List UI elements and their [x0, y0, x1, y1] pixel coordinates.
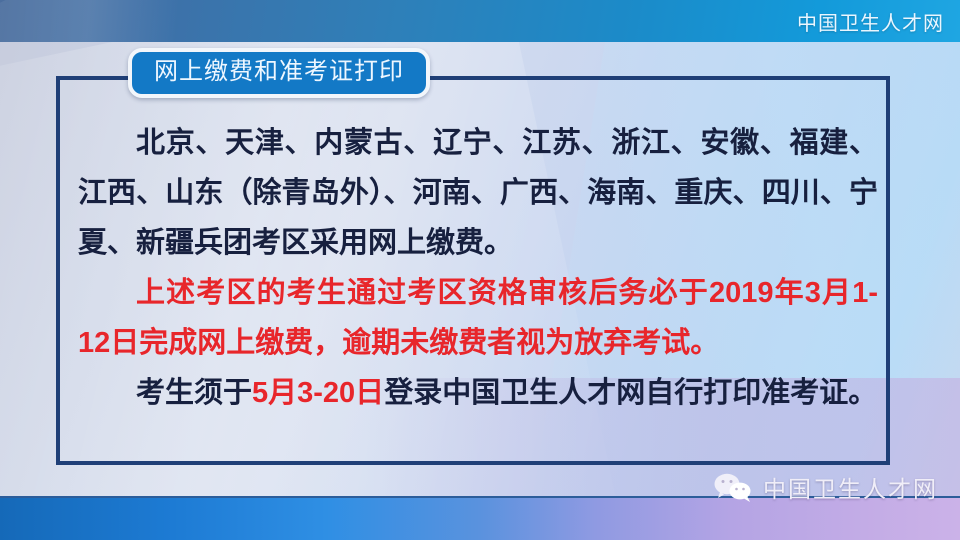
watermark: 中国卫生人才网	[713, 470, 938, 504]
slide-body-content: 北京、天津、内蒙古、辽宁、江苏、浙江、安徽、福建、江西、山东（除青岛外）、河南、…	[78, 118, 878, 418]
watermark-text: 中国卫生人才网	[763, 470, 938, 504]
wechat-icon	[713, 472, 753, 502]
header-title: 中国卫生人才网	[797, 7, 944, 36]
slide-title-chip: 网上缴费和准考证打印	[128, 48, 430, 98]
admission-date-highlight: 5月3-20日	[252, 377, 384, 409]
header-band: 中国卫生人才网	[0, 0, 960, 42]
admission-text-lead: 考生须于	[136, 377, 252, 409]
paragraph-provinces: 北京、天津、内蒙古、辽宁、江苏、浙江、安徽、福建、江西、山东（除青岛外）、河南、…	[78, 118, 878, 268]
slide-title-text: 网上缴费和准考证打印	[154, 60, 404, 84]
paragraph-admission-ticket: 考生须于5月3-20日登录中国卫生人才网自行打印准考证。	[78, 368, 878, 418]
paragraph-payment-deadline: 上述考区的考生通过考区资格审核后务必于2019年3月1-12日完成网上缴费，逾期…	[78, 268, 878, 368]
header-diagonal-highlight	[0, 0, 286, 42]
admission-text-tail: 登录中国卫生人才网自行打印准考证。	[384, 377, 877, 409]
presentation-slide: 中国卫生人才网 网上缴费和准考证打印 北京、天津、内蒙古、辽宁、江苏、浙江、安徽…	[0, 0, 960, 540]
